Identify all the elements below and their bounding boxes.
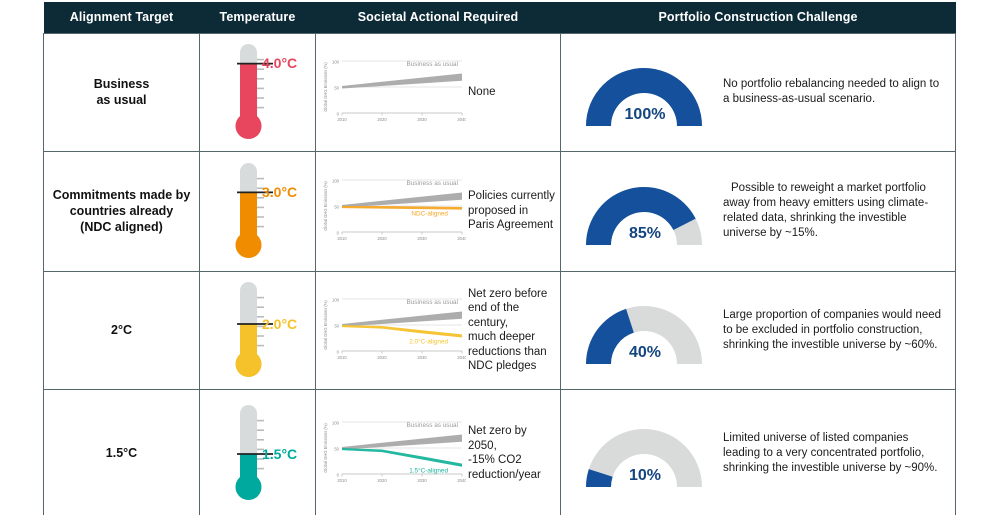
svg-text:Business as usual: Business as usual: [406, 422, 458, 429]
cell-temperature: 2.0°C: [200, 271, 316, 389]
gauge-container: 40%: [561, 284, 721, 377]
gauge-value-label: 40%: [561, 344, 721, 362]
svg-text:2010: 2010: [337, 355, 347, 360]
thermometer: 2.0°C: [200, 272, 316, 389]
alignment-target-label: 1.5°C: [44, 441, 199, 465]
cell-societal-action: 0501002010202020302040Global GHG Emissio…: [316, 389, 561, 515]
mini-emissions-chart: 0501002010202020302040Global GHG Emissio…: [320, 412, 466, 490]
temperature-value: 2.0°C: [262, 316, 297, 332]
gauge-container: 85%: [561, 165, 721, 258]
svg-text:2010: 2010: [337, 236, 347, 241]
svg-text:2010: 2010: [337, 117, 347, 122]
svg-text:2.0°C-aligned: 2.0°C-aligned: [409, 337, 448, 345]
svg-text:Global GHG Emissions (%): Global GHG Emissions (%): [323, 61, 328, 111]
thermometer-graphic: 2.0°C: [206, 278, 310, 383]
portfolio-challenge-text: Limited universe of listed companies lea…: [721, 431, 955, 476]
societal-action-text: None: [462, 85, 560, 100]
svg-text:2030: 2030: [417, 478, 427, 483]
svg-text:1.5°C-aligned: 1.5°C-aligned: [409, 466, 448, 474]
cell-temperature: 4.0°C: [200, 33, 316, 151]
svg-text:100: 100: [332, 178, 340, 183]
table-row: 1.5°C 1.5°C 0501002010202020302040Global…: [44, 389, 956, 515]
societal-action-text: Policies currentlyproposed inParis Agree…: [462, 189, 560, 233]
svg-text:Business as usual: Business as usual: [406, 61, 458, 68]
thermometer-graphic: 3.0°C: [206, 159, 310, 264]
svg-text:Global GHG Emissions (%): Global GHG Emissions (%): [323, 180, 328, 230]
svg-text:50: 50: [334, 204, 339, 209]
svg-text:NDC-aligned: NDC-aligned: [411, 210, 448, 217]
cell-temperature: 3.0°C: [200, 151, 316, 271]
alignment-comparison-table: Alignment Target Temperature Societal Ac…: [43, 2, 956, 515]
svg-text:Global GHG Emissions (%): Global GHG Emissions (%): [323, 422, 328, 472]
header-row: Alignment Target Temperature Societal Ac…: [44, 2, 956, 33]
svg-text:2030: 2030: [417, 236, 427, 241]
col-header-societal-action: Societal Actional Required: [316, 2, 561, 33]
emissions-chart-container: 0501002010202020302040Global GHG Emissio…: [316, 412, 462, 495]
thermometer: 1.5°C: [200, 390, 316, 515]
alignment-target-label: Businessas usual: [44, 72, 199, 112]
infographic-table-page: Alignment Target Temperature Societal Ac…: [0, 0, 1000, 515]
temperature-value: 4.0°C: [262, 55, 297, 71]
emissions-chart-container: 0501002010202020302040Global GHG Emissio…: [316, 51, 462, 134]
portfolio-challenge-text: Large proportion of companies would need…: [721, 308, 955, 353]
mini-emissions-chart: 0501002010202020302040Global GHG Emissio…: [320, 51, 466, 129]
table-row: 2°C 2.0°C 0501002010202020302040Global G…: [44, 271, 956, 389]
col-header-temperature: Temperature: [200, 2, 316, 33]
svg-text:2030: 2030: [417, 355, 427, 360]
svg-text:Business as usual: Business as usual: [406, 180, 458, 187]
svg-text:50: 50: [334, 446, 339, 451]
svg-text:0: 0: [337, 349, 340, 354]
table-header: Alignment Target Temperature Societal Ac…: [44, 2, 956, 33]
cell-temperature: 1.5°C: [200, 389, 316, 515]
emissions-chart-container: 0501002010202020302040Global GHG Emissio…: [316, 289, 462, 372]
alignment-target-label: 2°C: [44, 318, 199, 342]
svg-text:100: 100: [332, 59, 340, 64]
societal-action-text: Net zero by 2050,-15% CO2reduction/year: [462, 424, 560, 482]
svg-text:2020: 2020: [377, 478, 387, 483]
mini-emissions-chart: 0501002010202020302040Global GHG Emissio…: [320, 170, 466, 248]
thermometer: 3.0°C: [200, 152, 316, 271]
cell-portfolio-challenge: 85% Possible to reweight a market portfo…: [561, 151, 956, 271]
svg-text:0: 0: [337, 230, 340, 235]
table-row: Commitments made bycountries already(NDC…: [44, 151, 956, 271]
gauge-value-label: 85%: [561, 225, 721, 243]
cell-alignment-target: Commitments made bycountries already(NDC…: [44, 151, 200, 271]
gauge-value-label: 100%: [561, 106, 721, 124]
gauge-value-label: 10%: [561, 467, 721, 485]
svg-text:2030: 2030: [417, 117, 427, 122]
gauge-container: 100%: [561, 46, 721, 139]
thermometer-graphic: 4.0°C: [206, 40, 310, 145]
col-header-portfolio-challenge: Portfolio Construction Challenge: [561, 2, 956, 33]
svg-text:50: 50: [334, 323, 339, 328]
cell-societal-action: 0501002010202020302040Global GHG Emissio…: [316, 151, 561, 271]
cell-alignment-target: Businessas usual: [44, 33, 200, 151]
table-body: Businessas usual 4.0°C 05010020102020203…: [44, 33, 956, 515]
svg-text:Business as usual: Business as usual: [406, 299, 458, 306]
svg-text:100: 100: [332, 420, 340, 425]
svg-text:2020: 2020: [377, 117, 387, 122]
col-header-alignment-target: Alignment Target: [44, 2, 200, 33]
cell-alignment-target: 2°C: [44, 271, 200, 389]
mini-emissions-chart: 0501002010202020302040Global GHG Emissio…: [320, 289, 466, 367]
cell-societal-action: 0501002010202020302040Global GHG Emissio…: [316, 33, 561, 151]
cell-portfolio-challenge: 100% No portfolio rebalancing needed to …: [561, 33, 956, 151]
portfolio-challenge-text: No portfolio rebalancing needed to align…: [721, 77, 955, 107]
temperature-value: 3.0°C: [262, 184, 297, 200]
svg-text:2010: 2010: [337, 478, 347, 483]
svg-text:0: 0: [337, 472, 340, 477]
thermometer-graphic: 1.5°C: [206, 401, 310, 506]
alignment-target-label: Commitments made bycountries already(NDC…: [44, 183, 199, 239]
svg-text:Global GHG Emissions (%): Global GHG Emissions (%): [323, 299, 328, 349]
societal-action-text: Net zero beforeend of the century,much d…: [462, 287, 560, 374]
cell-alignment-target: 1.5°C: [44, 389, 200, 515]
svg-text:2040: 2040: [457, 236, 466, 241]
svg-text:2020: 2020: [377, 236, 387, 241]
emissions-chart-container: 0501002010202020302040Global GHG Emissio…: [316, 170, 462, 253]
cell-portfolio-challenge: 40% Large proportion of companies would …: [561, 271, 956, 389]
svg-text:2020: 2020: [377, 355, 387, 360]
temperature-value: 1.5°C: [262, 446, 297, 462]
cell-societal-action: 0501002010202020302040Global GHG Emissio…: [316, 271, 561, 389]
thermometer: 4.0°C: [200, 34, 316, 151]
svg-text:0: 0: [337, 111, 340, 116]
cell-portfolio-challenge: 10% Limited universe of listed companies…: [561, 389, 956, 515]
svg-text:2040: 2040: [457, 117, 466, 122]
table-row: Businessas usual 4.0°C 05010020102020203…: [44, 33, 956, 151]
gauge-container: 10%: [561, 407, 721, 500]
svg-text:100: 100: [332, 297, 340, 302]
svg-text:50: 50: [334, 85, 339, 90]
portfolio-challenge-text: Possible to reweight a market portfolio …: [721, 181, 955, 241]
